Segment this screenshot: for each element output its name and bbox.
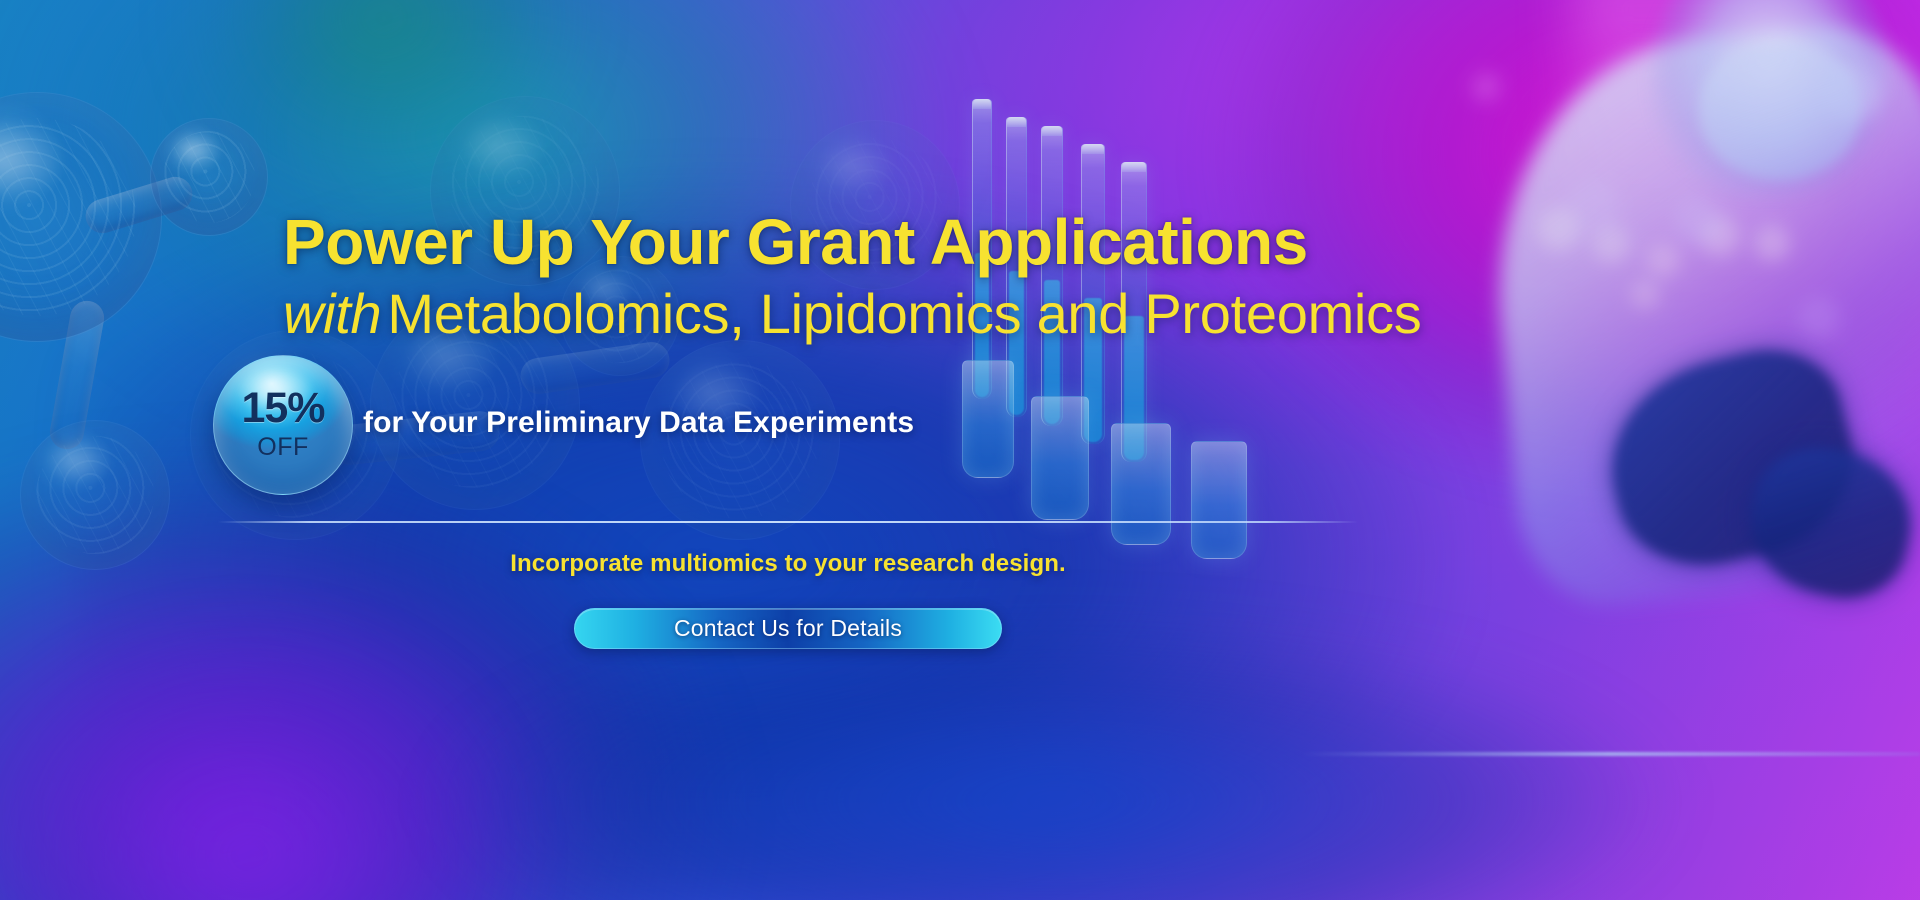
discount-off-label: OFF — [257, 435, 309, 460]
section-divider — [218, 521, 1358, 523]
banner-content: Power Up Your Grant Applications withMet… — [0, 0, 1920, 900]
cta-container: Contact Us for Details — [0, 608, 1576, 649]
headline-omics-list: Metabolomics, Lipidomics and Proteomics — [387, 282, 1421, 345]
promo-banner: Power Up Your Grant Applications withMet… — [0, 0, 1920, 900]
discount-percent: 15% — [241, 387, 324, 430]
headline-line-2: withMetabolomics, Lipidomics and Proteom… — [283, 286, 1683, 342]
contact-us-button[interactable]: Contact Us for Details — [574, 608, 1002, 649]
offer-subtitle: for Your Preliminary Data Experiments — [363, 406, 914, 440]
discount-badge: 15% OFF — [213, 355, 353, 495]
headline-line-1: Power Up Your Grant Applications — [283, 210, 1643, 274]
tagline: Incorporate multiomics to your research … — [0, 550, 1576, 578]
headline-with-word: with — [283, 282, 387, 345]
